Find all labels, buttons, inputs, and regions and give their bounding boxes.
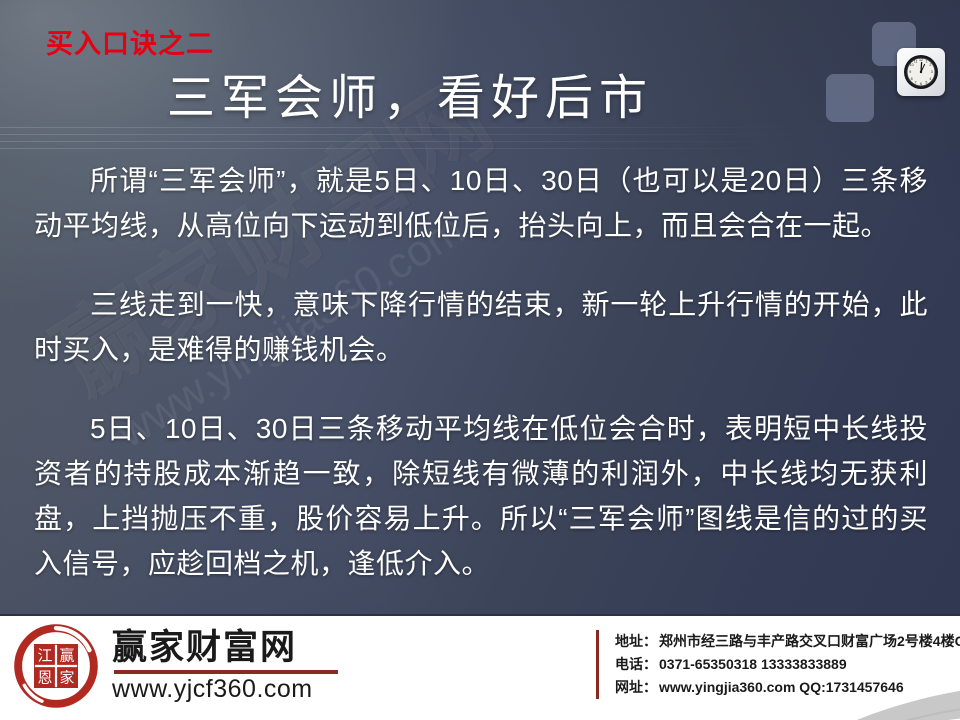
- contact-row-website: 网址：www.yingjia360.com QQ:1731457646: [615, 676, 960, 699]
- slide: 12 1 2 3 4 5 6 7 8 9 10 11 赢家财富网 www.yin…: [0, 0, 960, 720]
- seal-logo-icon: 江 赢 恩 家: [12, 622, 100, 710]
- brand-text: 赢家财富网 www.yjcf360.com: [112, 628, 338, 703]
- footer: 江 赢 恩 家 赢家财富网 www.yjcf360.com 地址：郑州市经三路与…: [0, 614, 960, 720]
- contact-value-address: 郑州市经三路与丰产路交叉口财富广场2号楼4楼C户: [659, 633, 960, 649]
- kicker-label: 买入口诀之二: [46, 22, 214, 61]
- brand-lockup: 江 赢 恩 家 赢家财富网 www.yjcf360.com: [12, 622, 338, 710]
- seal-char-2: 赢: [60, 648, 75, 665]
- contact-block: 地址：郑州市经三路与丰产路交叉口财富广场2号楼4楼C户 电话：0371-6535…: [596, 630, 960, 699]
- paragraph-3: 5日、10日、30日三条移动平均线在低位会合时，表明短中长线投资者的持股成本渐趋…: [34, 406, 928, 586]
- paragraph-1: 所谓“三军会师”，就是5日、10日、30日（也可以是20日）三条移动平均线，从高…: [34, 158, 928, 248]
- contact-label-phone: 电话：: [615, 656, 657, 672]
- brand-divider: [114, 670, 338, 674]
- brand-name: 赢家财富网: [112, 630, 338, 667]
- page-title: 三军会师，看好后市: [0, 58, 960, 128]
- contact-row-phone: 电话：0371-65350318 13333833889: [615, 653, 960, 676]
- contact-value-website: www.yingjia360.com QQ:1731457646: [659, 679, 904, 695]
- brand-url: www.yjcf360.com: [112, 676, 338, 704]
- contact-label-website: 网址：: [615, 679, 657, 695]
- contact-row-address: 地址：郑州市经三路与丰产路交叉口财富广场2号楼4楼C户: [615, 630, 960, 653]
- contact-label-address: 地址：: [615, 633, 657, 649]
- seal-char-1: 江: [38, 648, 53, 665]
- seal-char-3: 恩: [38, 671, 53, 687]
- contact-value-phone: 0371-65350318 13333833889: [659, 656, 847, 672]
- paragraph-2: 三线走到一快，意味下降行情的结束，新一轮上升行情的开始，此时买入，是难得的赚钱机…: [34, 282, 928, 372]
- body-copy: 所谓“三军会师”，就是5日、10日、30日（也可以是20日）三条移动平均线，从高…: [34, 158, 928, 586]
- seal-char-4: 家: [60, 670, 75, 687]
